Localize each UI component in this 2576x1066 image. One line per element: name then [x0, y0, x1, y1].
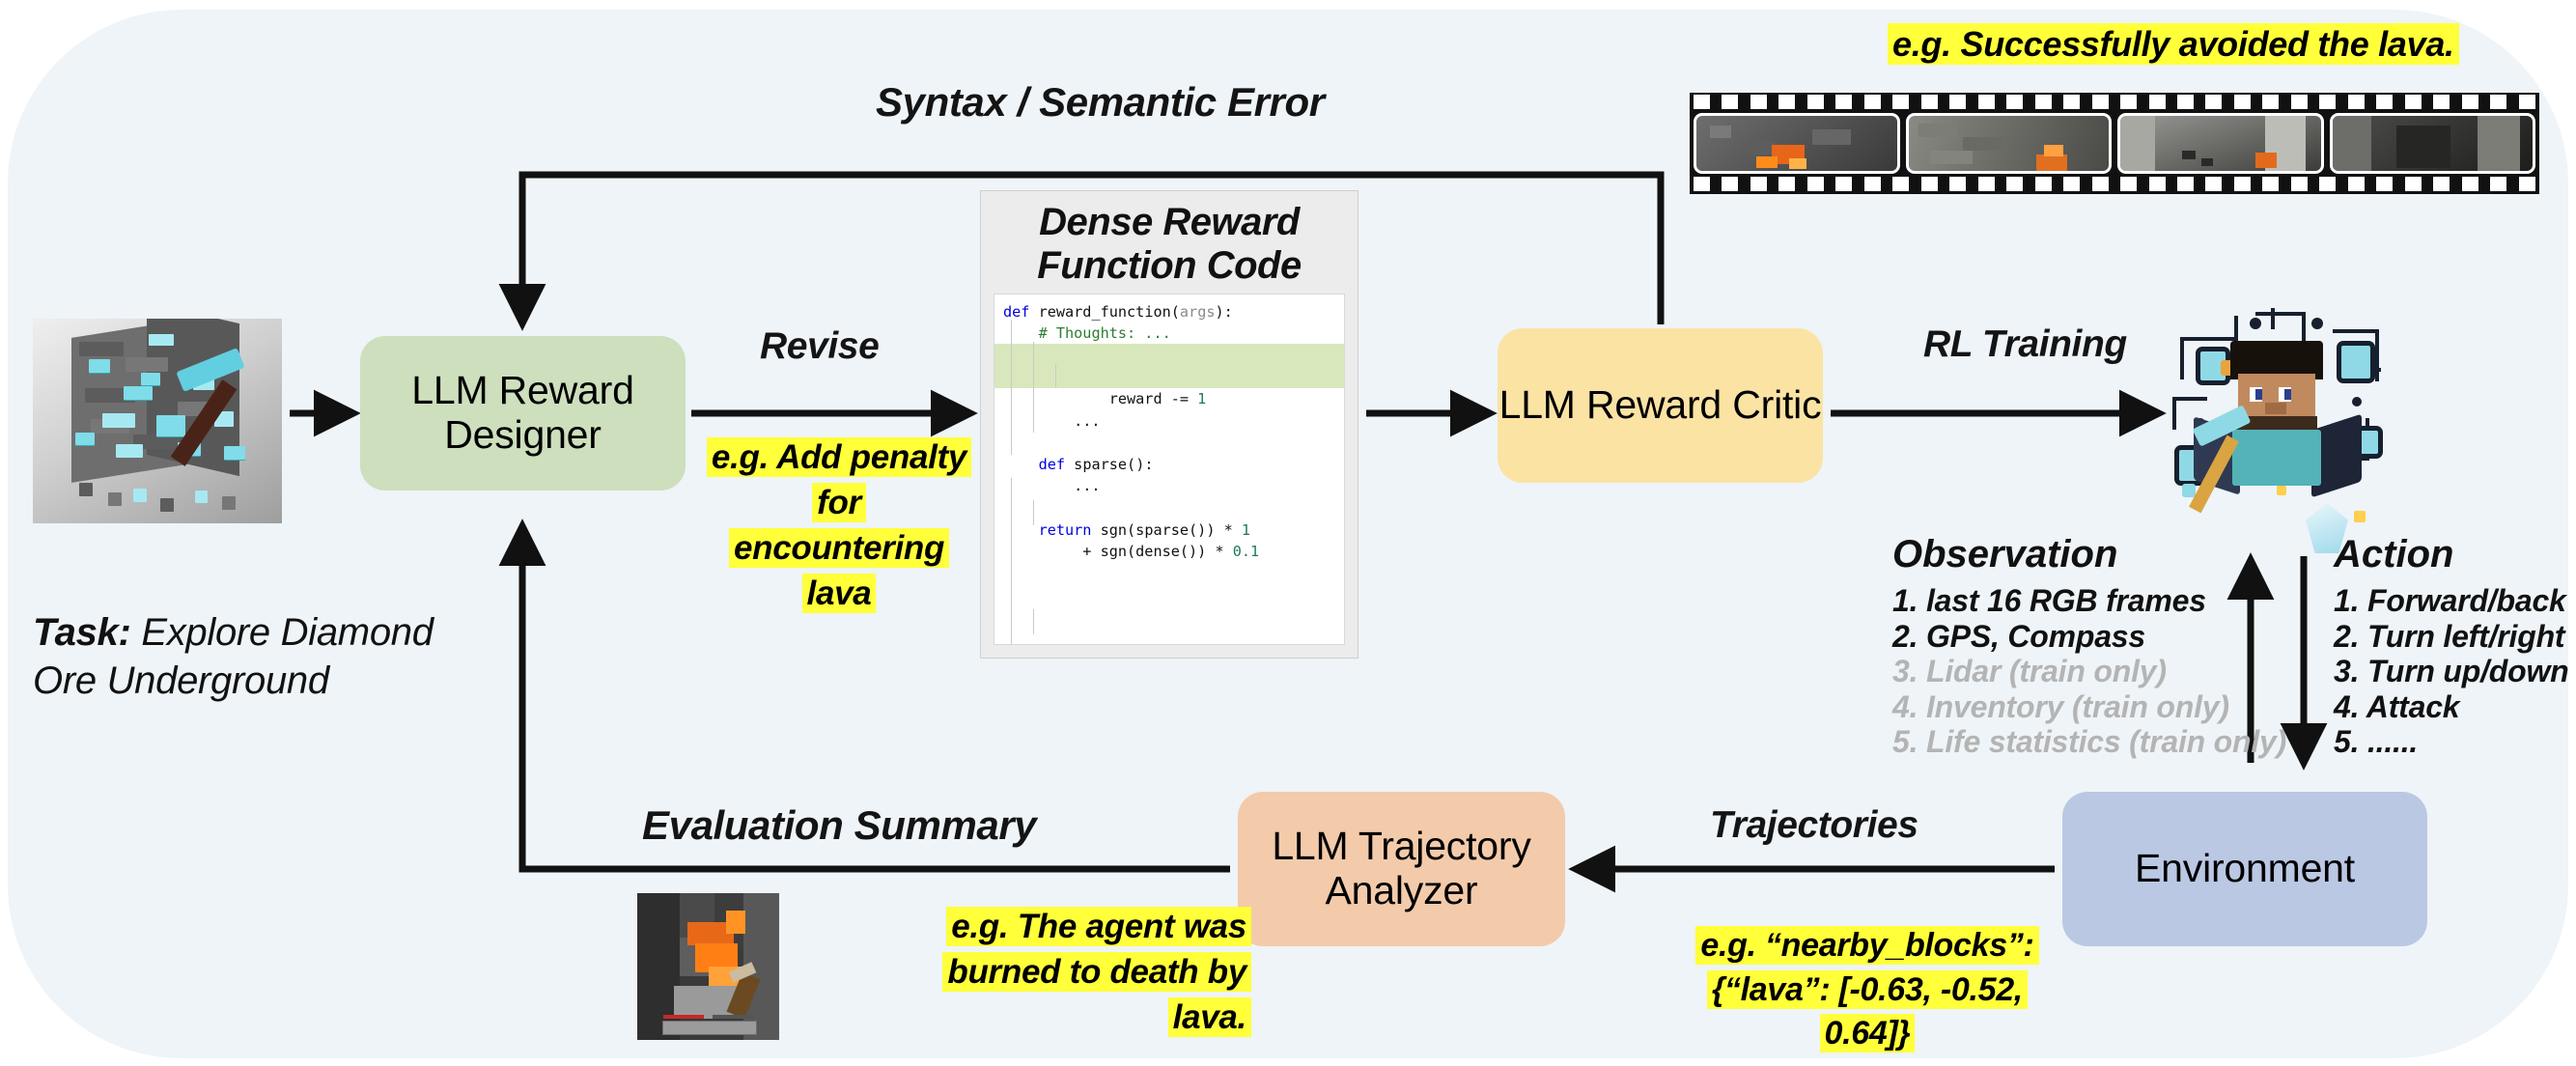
- list-item: 3. Turn up/down: [2334, 654, 2569, 689]
- edge-label-rl-training: RL Training: [1923, 323, 2127, 366]
- observation-list: 1. last 16 RGB frames 2. GPS, Compass 3.…: [1892, 583, 2286, 760]
- film-frame: [1906, 113, 2113, 174]
- film-frame: [2330, 113, 2536, 174]
- task-caption: Task: Explore Diamond Ore Underground: [33, 608, 438, 705]
- list-item: 4. Attack: [2334, 689, 2569, 725]
- highlight-text-line2: burned to death by lava.: [942, 952, 1251, 1037]
- observation-heading: Observation: [1892, 533, 2117, 576]
- highlight-revise-note: e.g. Add penalty for encountering lava: [696, 435, 982, 617]
- task-image-diamond-ore: [33, 319, 282, 523]
- highlight-trajectory-note: e.g. “nearby_blocks”: {“lava”: [-0.63, -…: [1668, 924, 2066, 1056]
- node-environment[interactable]: Environment: [2062, 792, 2427, 946]
- node-llm-reward-critic[interactable]: LLM Reward Critic: [1498, 328, 1823, 483]
- task-prefix: Task:: [33, 611, 131, 654]
- list-item: 1. Forward/back: [2334, 583, 2569, 619]
- highlight-text-line1: e.g. “nearby_blocks”:: [1695, 926, 2038, 965]
- code-card-title: Dense Reward Function Code: [981, 191, 1358, 294]
- edge-label-syntax-error: Syntax / Semantic Error: [876, 79, 1325, 126]
- edge-label-revise: Revise: [760, 325, 879, 368]
- highlight-text-line2: {“lava”: [-0.63, -0.52, 0.64]}: [1707, 970, 2028, 1053]
- list-item: 2. GPS, Compass: [1892, 619, 2286, 655]
- dense-reward-code-card: Dense Reward Function Code def reward_fu…: [980, 190, 1358, 659]
- minecraft-agent-icon: [2223, 341, 2331, 486]
- node-label: LLM Reward Critic: [1499, 383, 1822, 428]
- film-frame: [1694, 113, 1900, 174]
- list-item: 2. Turn left/right: [2334, 619, 2569, 655]
- highlight-text-line2: encountering lava: [729, 528, 949, 613]
- trajectory-film-strip: [1690, 93, 2539, 194]
- list-item: 5. ......: [2334, 724, 2569, 760]
- list-item: 5. Life statistics (train only): [1892, 724, 2286, 760]
- code-block[interactable]: def reward_function(args): # Thoughts: .…: [994, 294, 1345, 645]
- code-title-line1: Dense Reward: [981, 201, 1358, 244]
- film-frame: [2117, 113, 2324, 174]
- code-title-line2: Function Code: [981, 244, 1358, 288]
- list-item: 3. Lidar (train only): [1892, 654, 2286, 689]
- highlight-text-line1: e.g. Add penalty for: [707, 437, 971, 522]
- node-label: LLM Trajectory Analyzer: [1238, 825, 1565, 913]
- edge-label-evaluation-summary: Evaluation Summary: [642, 802, 1036, 849]
- highlight-text: e.g. Successfully avoided the lava.: [1888, 23, 2459, 65]
- node-llm-reward-designer[interactable]: LLM Reward Designer: [360, 336, 686, 491]
- edge-label-trajectories: Trajectories: [1710, 804, 1918, 847]
- action-heading: Action: [2334, 533, 2453, 576]
- highlight-text-line1: e.g. The agent was: [946, 907, 1251, 946]
- rl-agent-illustration: [2163, 304, 2394, 531]
- highlight-eval-note: e.g. The agent was burned to death by la…: [917, 905, 1251, 1041]
- code-highlight-band: [994, 344, 1344, 388]
- eval-image-lava-cave: [637, 893, 779, 1040]
- highlight-film-caption: e.g. Successfully avoided the lava.: [1888, 21, 2459, 68]
- node-llm-trajectory-analyzer[interactable]: LLM Trajectory Analyzer: [1238, 792, 1565, 946]
- node-label: LLM Reward Designer: [360, 369, 686, 458]
- action-list: 1. Forward/back 2. Turn left/right 3. Tu…: [2334, 583, 2569, 760]
- node-label: Environment: [2135, 847, 2355, 891]
- code-text: def reward_function(args): # Thoughts: .…: [994, 295, 1344, 563]
- list-item: 1. last 16 RGB frames: [1892, 583, 2286, 619]
- list-item: 4. Inventory (train only): [1892, 689, 2286, 725]
